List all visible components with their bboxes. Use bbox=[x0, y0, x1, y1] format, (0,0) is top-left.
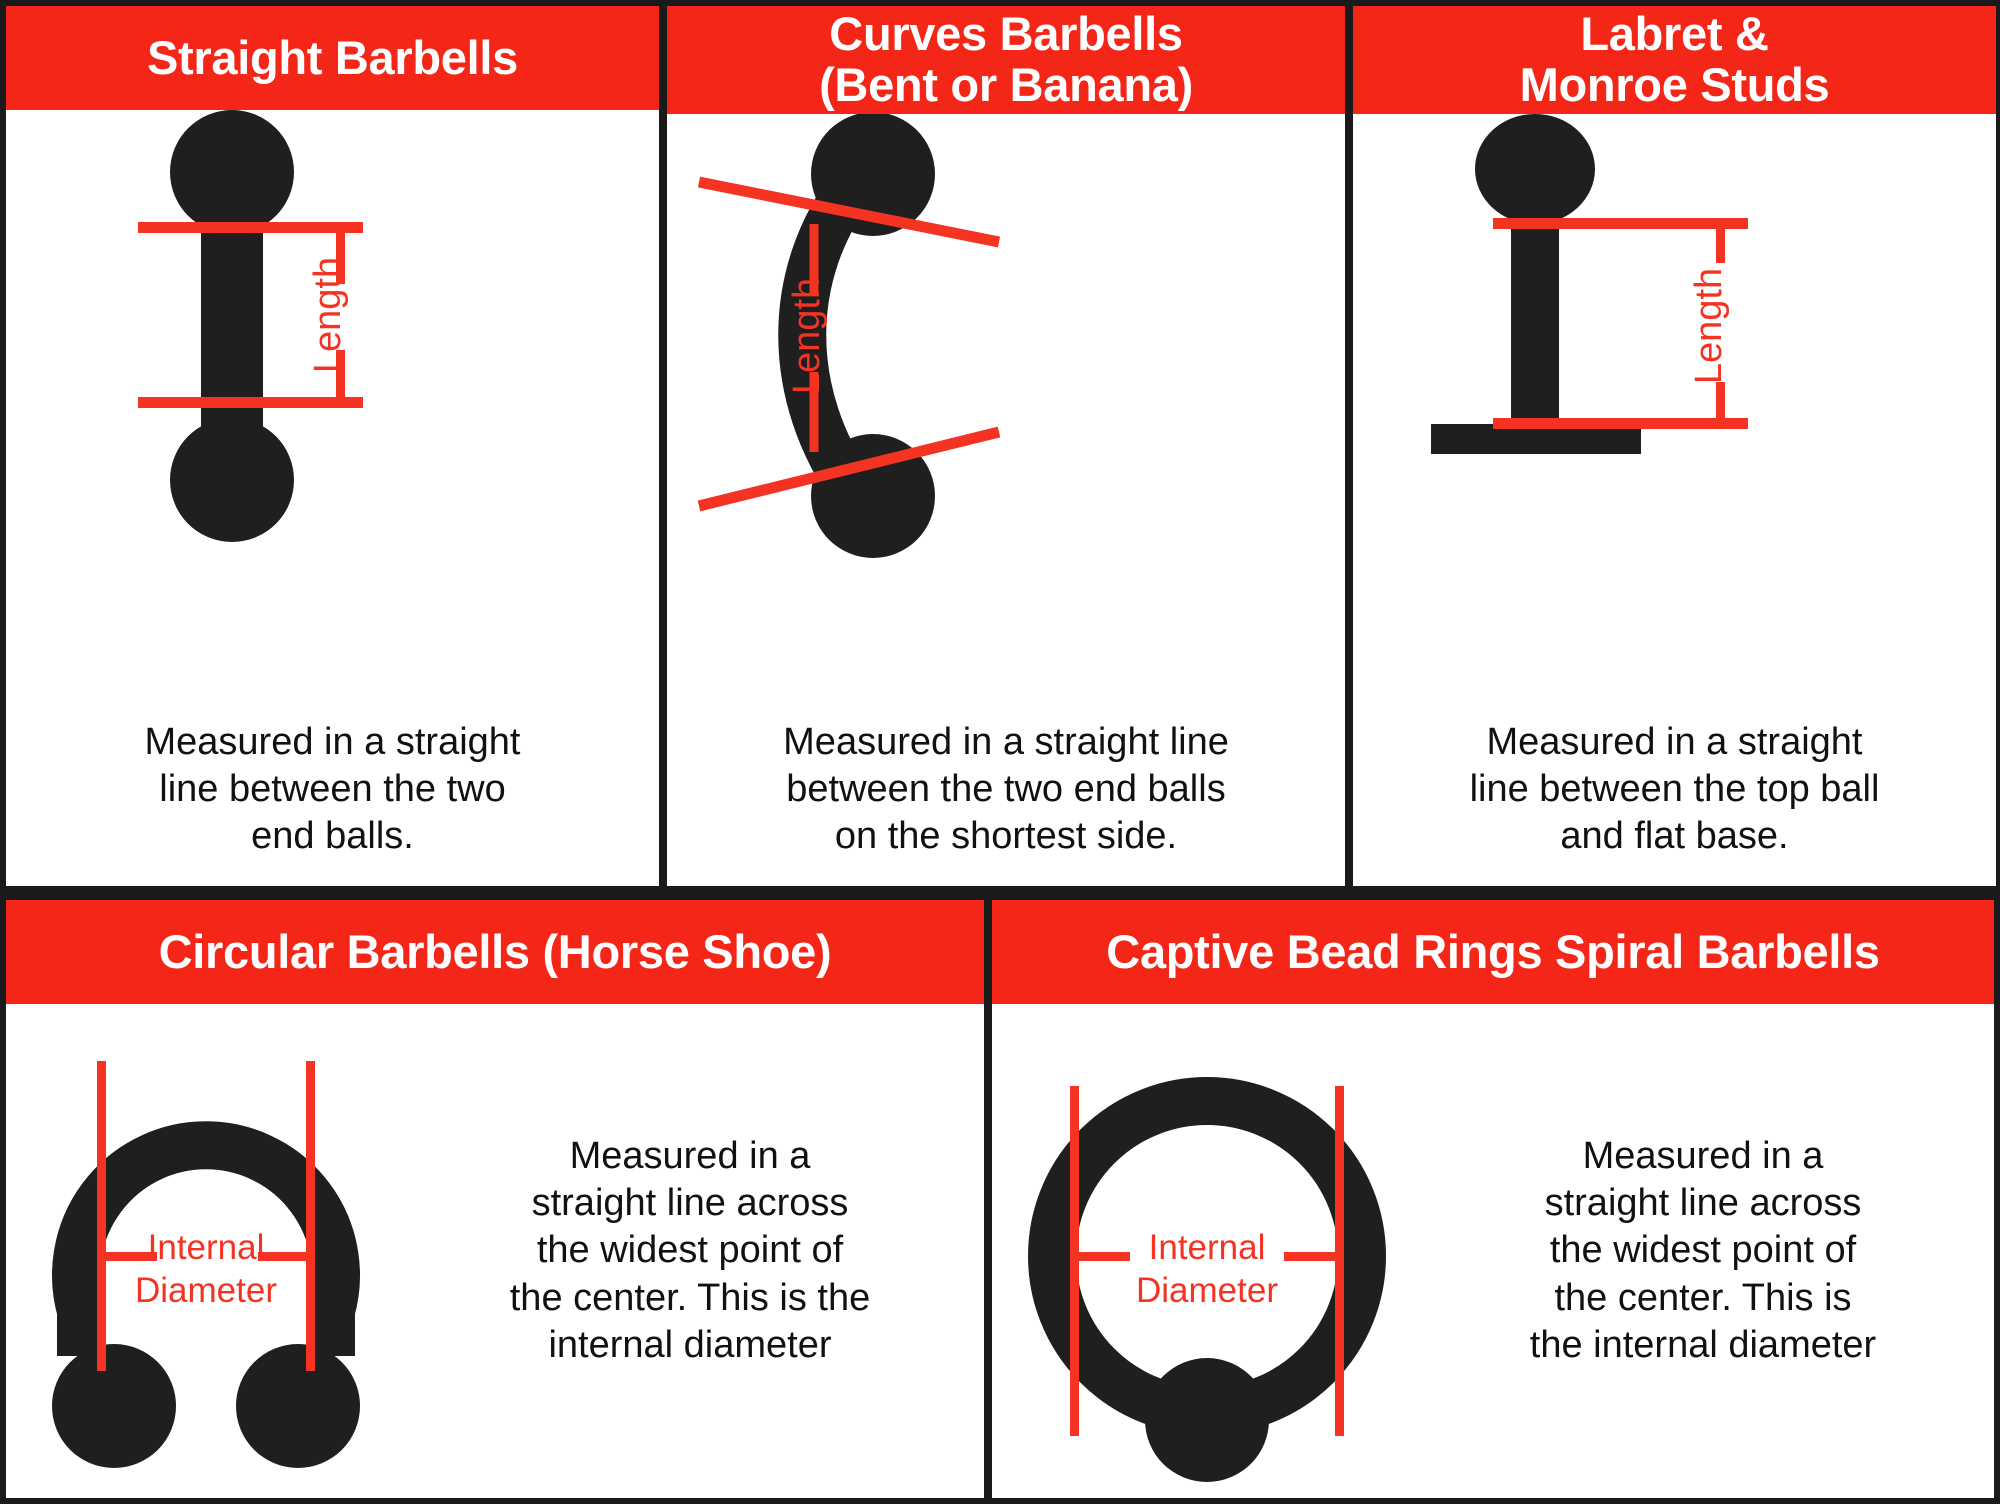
panel-circular-barbells: Circular Barbells (Horse Shoe) bbox=[6, 900, 984, 1498]
caption-line: Measured in a bbox=[416, 1133, 964, 1180]
panel-row-top: Straight Barbells bbox=[0, 6, 2000, 886]
diagram-captive-bead-ring: Internal Diameter bbox=[992, 1016, 1422, 1486]
barbell-ball-top bbox=[170, 110, 294, 234]
diagram-curved-barbell: Length bbox=[667, 114, 1345, 719]
caption-line: and flat base. bbox=[1379, 813, 1970, 860]
panel-title-line: Labret & bbox=[1520, 9, 1830, 60]
caption-line: Measured in a bbox=[1432, 1133, 1974, 1180]
panel-caption-straight-barbells: Measured in a straight line between the … bbox=[6, 719, 659, 886]
caption-line: Measured in a straight line bbox=[693, 719, 1319, 766]
measure-label-length: Length bbox=[1688, 268, 1730, 384]
panel-caption-circular-barbells: Measured in a straight line across the w… bbox=[406, 1133, 984, 1369]
caption-line: the widest point of bbox=[416, 1227, 964, 1274]
measure-label-length: Length bbox=[786, 278, 828, 394]
panel-title-line: Monroe Studs bbox=[1520, 60, 1830, 111]
caption-line: the center. This is bbox=[1432, 1275, 1974, 1322]
caption-line: straight line across bbox=[1432, 1180, 1974, 1227]
caption-line: the center. This is the bbox=[416, 1275, 964, 1322]
measure-label-length: Length bbox=[307, 257, 349, 373]
panel-title-circular-barbells: Circular Barbells (Horse Shoe) bbox=[6, 900, 984, 1004]
diagram-straight-barbell: Length bbox=[6, 110, 659, 719]
caption-line: straight line across bbox=[416, 1180, 964, 1227]
labret-ball-top bbox=[1475, 114, 1595, 224]
panel-title-line: Circular Barbells (Horse Shoe) bbox=[159, 927, 832, 978]
horseshoe-illustration: Internal Diameter bbox=[6, 1016, 406, 1486]
measure-label-diameter: Diameter bbox=[135, 1271, 277, 1310]
measure-extension-bottom bbox=[1493, 418, 1748, 429]
measure-extension-right bbox=[306, 1061, 315, 1371]
measure-label-internal: Internal bbox=[1149, 1228, 1266, 1267]
caption-line: internal diameter bbox=[416, 1322, 964, 1369]
caption-line: end balls. bbox=[32, 813, 633, 860]
measure-extension-bottom bbox=[138, 397, 363, 408]
captive-bead-ring-illustration: Internal Diameter bbox=[992, 1016, 1422, 1486]
caption-line: line between the top ball bbox=[1379, 766, 1970, 813]
infographic-sheet: Straight Barbells bbox=[0, 0, 2000, 1504]
panel-title-straight-barbells: Straight Barbells bbox=[6, 6, 659, 110]
labret-stud-illustration: Length bbox=[1353, 114, 1996, 554]
panel-title-line: Captive Bead Rings Spiral Barbells bbox=[1106, 927, 1879, 978]
measure-line-upper bbox=[1716, 218, 1725, 263]
caption-line: Measured in a straight bbox=[1379, 719, 1970, 766]
panel-caption-labret-monroe-studs: Measured in a straight line between the … bbox=[1353, 719, 1996, 886]
panel-title-labret-monroe-studs: Labret & Monroe Studs bbox=[1353, 6, 1996, 114]
measure-arrow-right bbox=[1284, 1252, 1344, 1261]
measure-arrow-left bbox=[1070, 1252, 1130, 1261]
measure-extension-top bbox=[1493, 218, 1748, 229]
panel-curved-barbells: Curves Barbells (Bent or Banana) bbox=[667, 6, 1345, 886]
caption-line: line between the two bbox=[32, 766, 633, 813]
panel-row-bottom: Circular Barbells (Horse Shoe) bbox=[0, 900, 2000, 1498]
panel-title-curved-barbells: Curves Barbells (Bent or Banana) bbox=[667, 6, 1345, 114]
caption-line: Measured in a straight bbox=[32, 719, 633, 766]
curved-barbell-illustration: Length bbox=[667, 114, 1345, 564]
horseshoe-ball-right bbox=[236, 1344, 360, 1468]
captive-bead bbox=[1145, 1358, 1269, 1482]
panel-title-line: Curves Barbells bbox=[819, 9, 1193, 60]
panel-labret-monroe-studs: Labret & Monroe Studs bbox=[1353, 6, 1996, 886]
panel-caption-captive-bead-rings: Measured in a straight line across the w… bbox=[1422, 1133, 1994, 1369]
measure-arrow-right bbox=[258, 1252, 315, 1261]
measure-label-diameter: Diameter bbox=[1136, 1271, 1278, 1310]
panel-caption-curved-barbells: Measured in a straight line between the … bbox=[667, 719, 1345, 886]
caption-line: the widest point of bbox=[1432, 1227, 1974, 1274]
caption-line: on the shortest side. bbox=[693, 813, 1319, 860]
diagram-labret-stud: Length bbox=[1353, 114, 1996, 719]
panel-body-captive-bead-rings: Internal Diameter Measured in a straight… bbox=[992, 1004, 1994, 1498]
straight-barbell-illustration: Length bbox=[6, 110, 659, 565]
caption-line: the internal diameter bbox=[1432, 1322, 1974, 1369]
panel-title-captive-bead-rings: Captive Bead Rings Spiral Barbells bbox=[992, 900, 1994, 1004]
panel-title-line: Straight Barbells bbox=[147, 33, 518, 84]
caption-line: between the two end balls bbox=[693, 766, 1319, 813]
measure-line-lower bbox=[1716, 382, 1725, 429]
panel-body-circular-barbells: Internal Diameter Measured in a straight… bbox=[6, 1004, 984, 1498]
diagram-horseshoe: Internal Diameter bbox=[6, 1016, 406, 1486]
measure-label-internal: Internal bbox=[148, 1228, 265, 1267]
measure-extension-top bbox=[138, 222, 363, 233]
barbell-ball-bottom bbox=[170, 418, 294, 542]
panel-straight-barbells: Straight Barbells bbox=[6, 6, 659, 886]
panel-captive-bead-rings: Captive Bead Rings Spiral Barbells bbox=[992, 900, 1994, 1498]
measure-extension-left bbox=[97, 1061, 106, 1371]
panel-title-line: (Bent or Banana) bbox=[819, 60, 1193, 111]
horseshoe-ball-left bbox=[52, 1344, 176, 1468]
